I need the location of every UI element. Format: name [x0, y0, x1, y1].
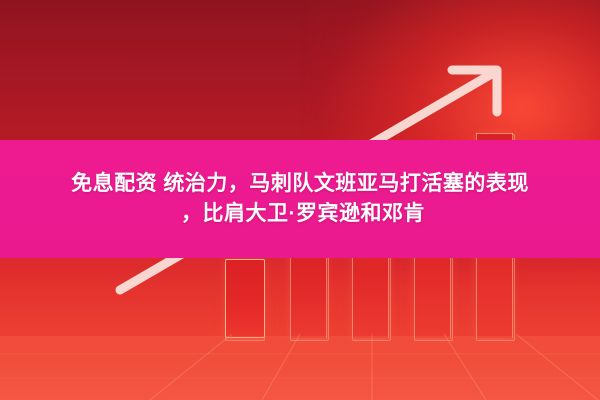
headline-line-1: 免息配资 统治力，马刺队文班亚马打活塞的表现 [71, 169, 529, 199]
bar-top-edge [476, 133, 513, 134]
headline-line-2: ，比肩大卫·罗宾逊和邓肯 [175, 199, 425, 229]
headline-band: 免息配资 统治力，马刺队文班亚马打活塞的表现 ，比肩大卫·罗宾逊和邓肯 [0, 140, 600, 258]
floor-perspective-lines [0, 334, 600, 400]
promo-banner-image: 免息配资 统治力，马刺队文班亚马打活塞的表现 ，比肩大卫·罗宾逊和邓肯 [0, 0, 600, 400]
bar-1-highlighted [225, 259, 265, 338]
